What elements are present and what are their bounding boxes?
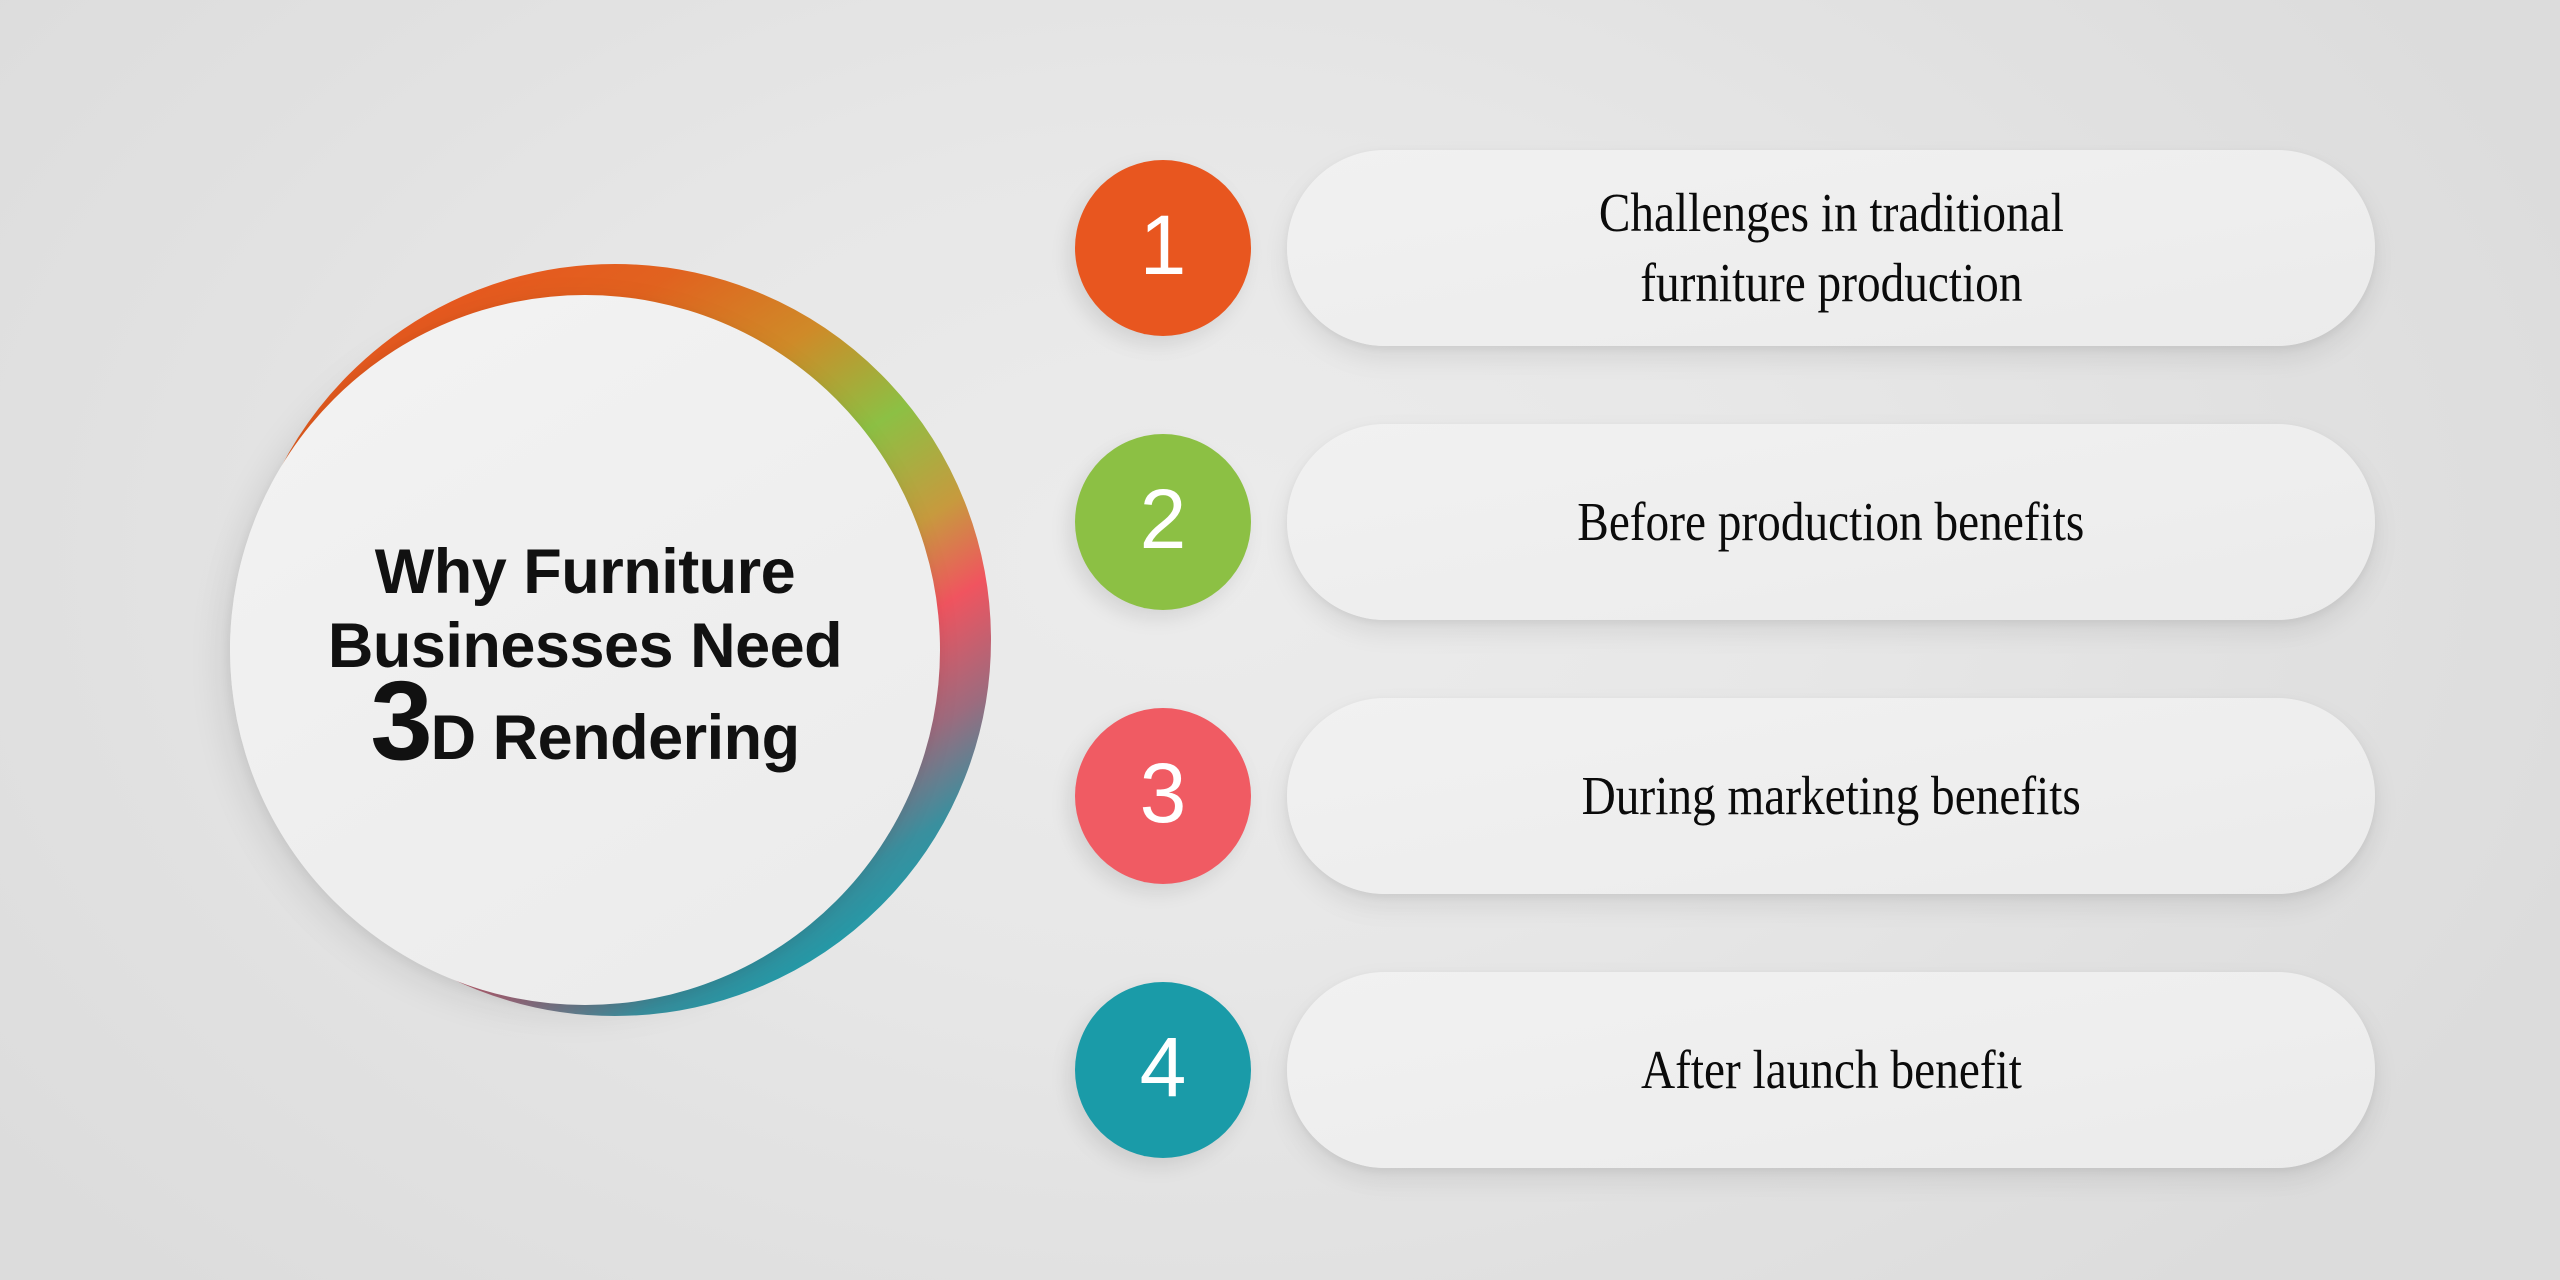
step-card-3[interactable]: During marketing benefits: [1287, 698, 2375, 894]
step-label-3: During marketing benefits: [1581, 761, 2080, 831]
step-number-2: 2: [1140, 477, 1187, 561]
title-big-three: 3: [370, 658, 430, 783]
title-circle: Why Furniture Businesses Need 3D Renderi…: [230, 295, 940, 1005]
step-card-4[interactable]: After launch benefit: [1287, 972, 2375, 1168]
list-item[interactable]: 4 After launch benefit: [1075, 960, 2375, 1180]
step-badge-1[interactable]: 1: [1075, 160, 1251, 336]
step-label-4: After launch benefit: [1641, 1035, 2022, 1105]
step-card-2[interactable]: Before production benefits: [1287, 424, 2375, 620]
step-card-1[interactable]: Challenges in traditional furniture prod…: [1287, 150, 2375, 346]
title-line-3-rest: D Rendering: [431, 703, 800, 773]
step-badge-4[interactable]: 4: [1075, 982, 1251, 1158]
title-line-3: 3D Rendering: [275, 686, 895, 776]
title-emblem: Why Furniture Businesses Need 3D Renderi…: [180, 150, 1080, 1140]
step-number-3: 3: [1140, 751, 1187, 835]
step-number-4: 4: [1140, 1025, 1187, 1109]
list-item[interactable]: 1 Challenges in traditional furniture pr…: [1075, 138, 2375, 358]
step-label-1: Challenges in traditional furniture prod…: [1598, 178, 2063, 319]
step-badge-3[interactable]: 3: [1075, 708, 1251, 884]
step-badge-2[interactable]: 2: [1075, 434, 1251, 610]
steps-list: 1 Challenges in traditional furniture pr…: [1075, 138, 2375, 1148]
infographic-canvas: Why Furniture Businesses Need 3D Renderi…: [0, 0, 2560, 1280]
list-item[interactable]: 3 During marketing benefits: [1075, 686, 2375, 906]
page-title: Why Furniture Businesses Need 3D Renderi…: [275, 536, 895, 775]
title-line-2: Businesses Need: [275, 610, 895, 684]
list-item[interactable]: 2 Before production benefits: [1075, 412, 2375, 632]
step-number-1: 1: [1140, 203, 1187, 287]
step-label-2: Before production benefits: [1578, 487, 2085, 557]
title-line-1: Why Furniture: [275, 536, 895, 610]
